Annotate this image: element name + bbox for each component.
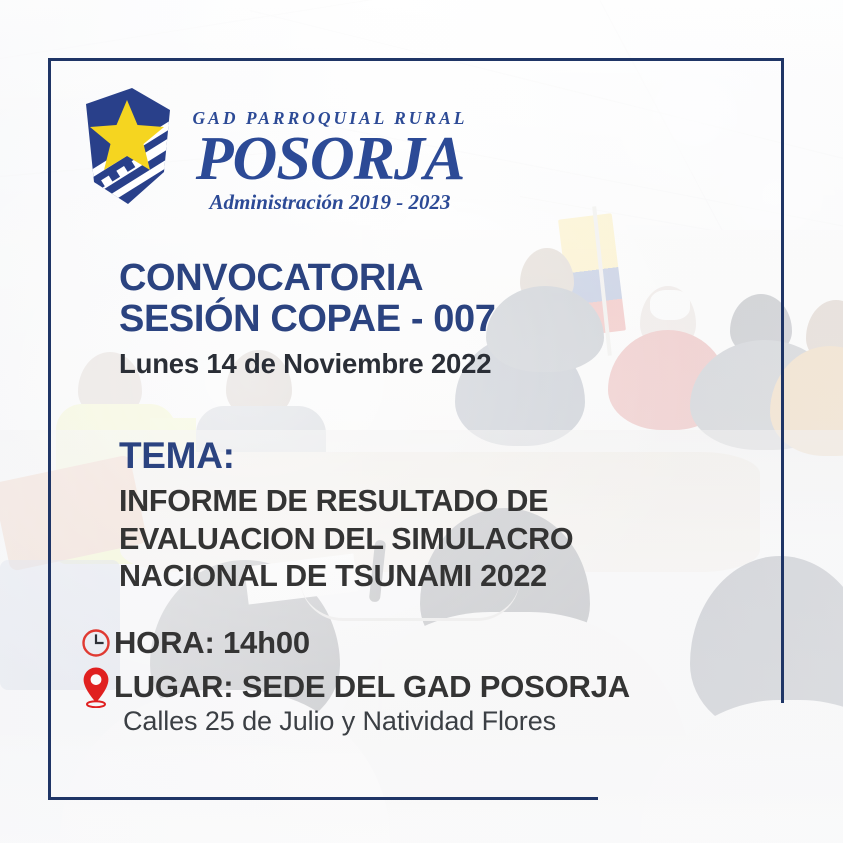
detail-row-lugar: LUGAR: SEDE DEL GAD POSORJA <box>78 668 778 706</box>
location-pin-icon-wrapper <box>78 668 114 706</box>
clock-icon <box>81 628 111 658</box>
frame-right-edge <box>781 58 784 703</box>
detail-hora-text: HORA: 14h00 <box>114 626 310 660</box>
detail-lugar-address: Calles 25 de Julio y Natividad Flores <box>123 707 778 737</box>
page-title: CONVOCATORIA SESIÓN COPAE - 007 <box>119 258 779 341</box>
tema-body: INFORME DE RESULTADO DE EVALUACION DEL S… <box>119 483 779 595</box>
tema-label: TEMA: <box>119 437 779 474</box>
tema-line-1: INFORME DE RESULTADO DE <box>119 483 779 520</box>
detail-lugar-text: LUGAR: SEDE DEL GAD POSORJA <box>114 670 630 704</box>
poster-canvas: GAD PARROQUIAL RURAL POSORJA Administrac… <box>0 0 843 843</box>
tema-line-3: NACIONAL DE TSUNAMI 2022 <box>119 558 779 595</box>
frame-bottom-edge <box>48 797 598 800</box>
event-details: HORA: 14h00 LUGAR: SEDE DEL GAD POSORJA … <box>78 624 778 737</box>
location-pin-icon <box>81 666 111 708</box>
content-block: CONVOCATORIA SESIÓN COPAE - 007 Lunes 14… <box>119 258 779 595</box>
detail-row-hora: HORA: 14h00 <box>78 624 778 662</box>
logo-line-administracion: Administración 2019 - 2023 <box>180 192 480 213</box>
frame-top-edge <box>48 58 784 61</box>
organization-logo: GAD PARROQUIAL RURAL POSORJA Administrac… <box>72 86 472 216</box>
frame-left-edge <box>48 58 51 800</box>
posorja-shield-star-icon <box>72 86 176 206</box>
event-date: Lunes 14 de Noviembre 2022 <box>119 348 779 380</box>
title-line-convocatoria: CONVOCATORIA <box>119 258 779 299</box>
title-line-sesion: SESIÓN COPAE - 007 <box>119 299 779 340</box>
logo-wordmark: GAD PARROQUIAL RURAL POSORJA Administrac… <box>180 86 480 213</box>
tema-line-2: EVALUACION DEL SIMULACRO <box>119 521 779 558</box>
logo-line-posorja: POSORJA <box>180 130 480 190</box>
clock-icon-wrapper <box>78 624 114 662</box>
